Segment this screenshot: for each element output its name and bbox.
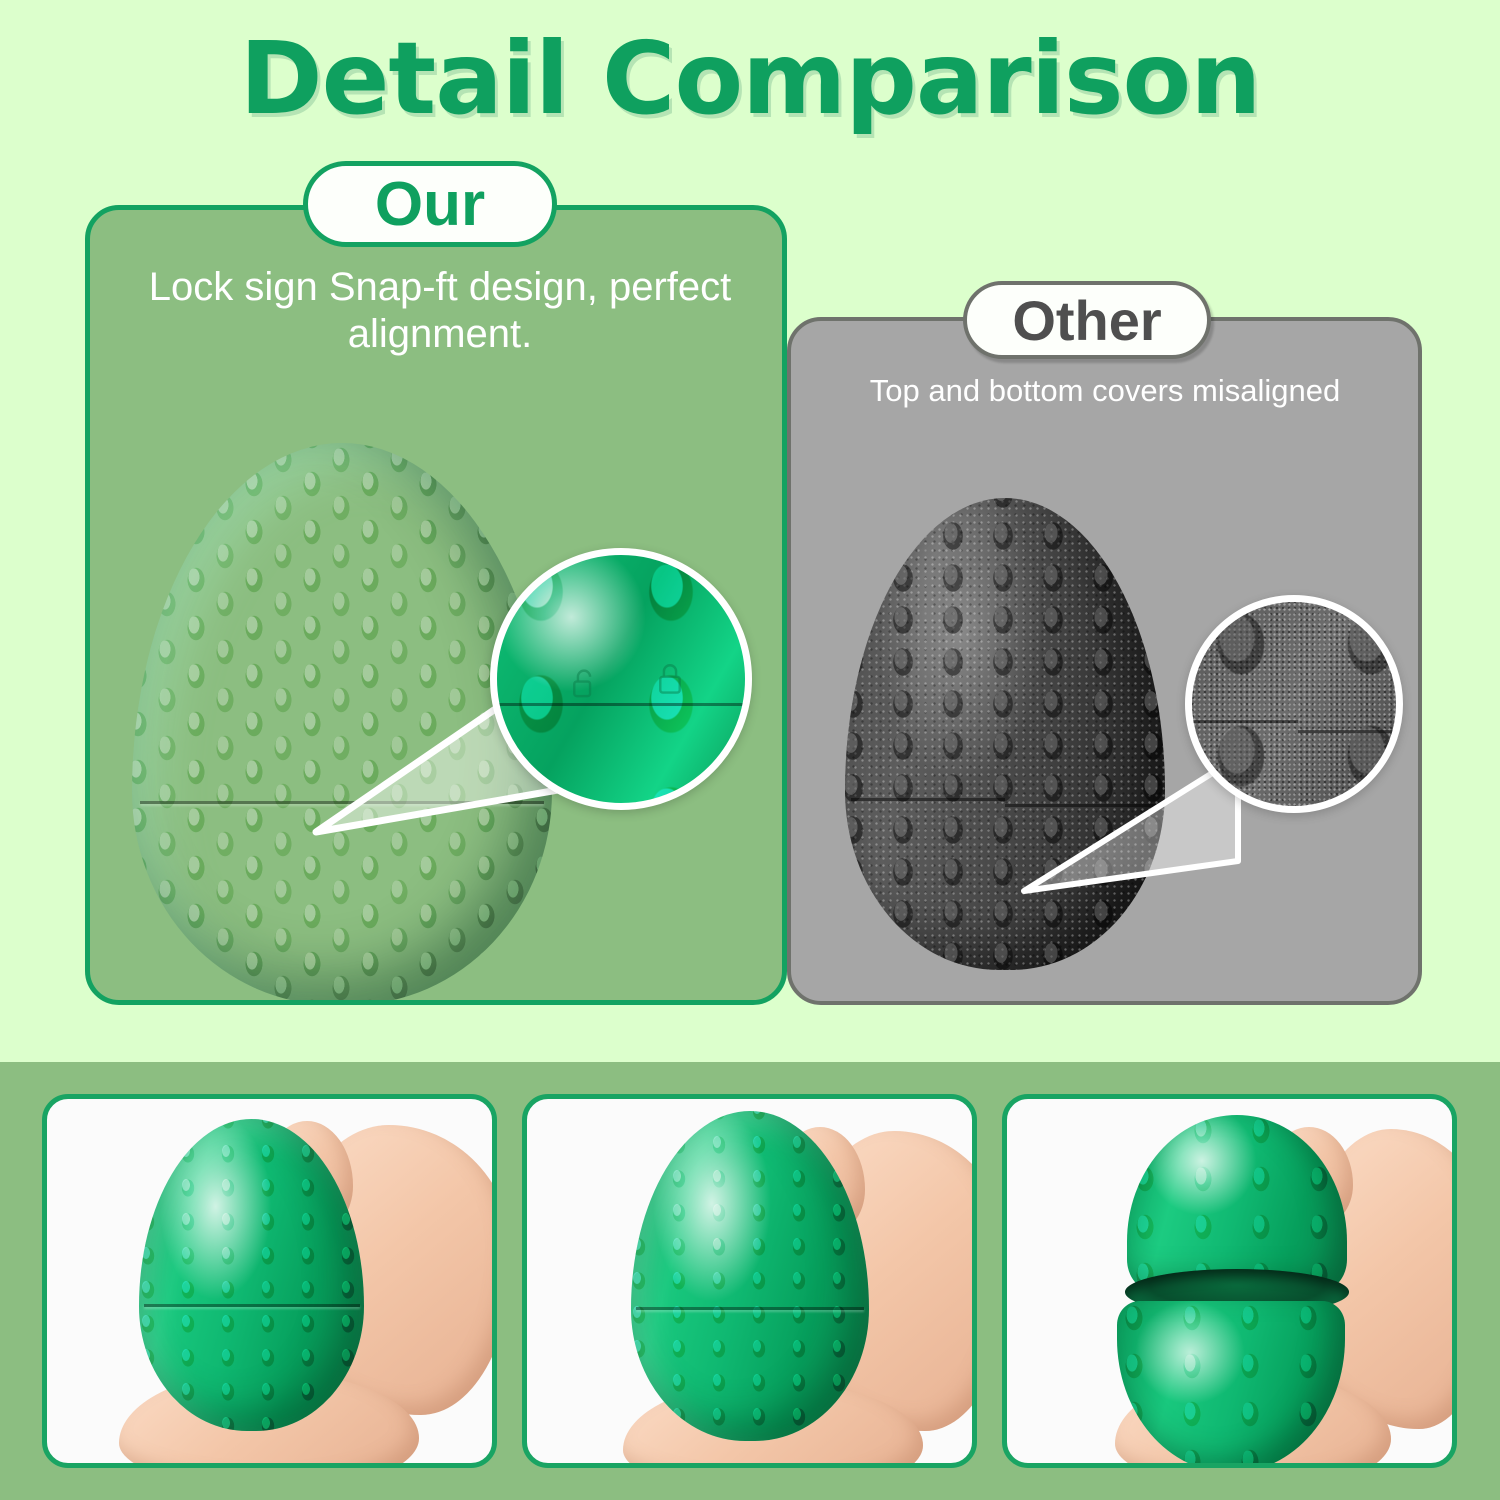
- gallery-card-2: [522, 1094, 977, 1468]
- magnified-seam-left: [1192, 720, 1298, 723]
- our-badge: Our: [303, 161, 557, 247]
- egg-lid-top-half: [1127, 1115, 1347, 1291]
- closed-dragon-egg: [631, 1111, 869, 1441]
- magnified-seam-right-misaligned: [1298, 730, 1396, 733]
- egg-base-bottom-half: [1117, 1301, 1345, 1468]
- our-badge-label: Our: [375, 169, 485, 240]
- our-magnifier-circle: [490, 548, 752, 810]
- other-magnifier-circle: [1185, 595, 1403, 813]
- other-caption: Top and bottom covers misaligned: [800, 372, 1410, 409]
- magnified-seam-aligned: [497, 703, 745, 706]
- gallery-card-3: [1002, 1094, 1457, 1468]
- scale-texture: [1127, 1115, 1347, 1291]
- closed-dragon-egg: [139, 1119, 364, 1431]
- egg-seam-line: [636, 1307, 864, 1310]
- comparison-section: Our Other Lock sign Snap-ft design, perf…: [0, 0, 1500, 1062]
- scale-texture: [631, 1111, 869, 1441]
- other-badge: Other: [963, 281, 1211, 359]
- unlock-icon: [569, 667, 599, 701]
- scale-texture: [139, 1119, 364, 1431]
- magnified-scale-texture: [490, 548, 752, 810]
- infographic-page: Detail Comparison: [0, 0, 1500, 1500]
- egg-seam-line: [144, 1304, 360, 1307]
- egg-seam-line-left: [851, 798, 1005, 801]
- gallery-card-1: [42, 1094, 497, 1468]
- other-badge-label: Other: [1012, 288, 1161, 353]
- magnified-scale-texture: [1185, 595, 1403, 813]
- our-caption: Lock sign Snap-ft design, perfect alignm…: [120, 264, 760, 358]
- scale-texture: [1117, 1301, 1345, 1468]
- lock-icon: [655, 661, 685, 695]
- gallery-strip: [0, 1062, 1500, 1500]
